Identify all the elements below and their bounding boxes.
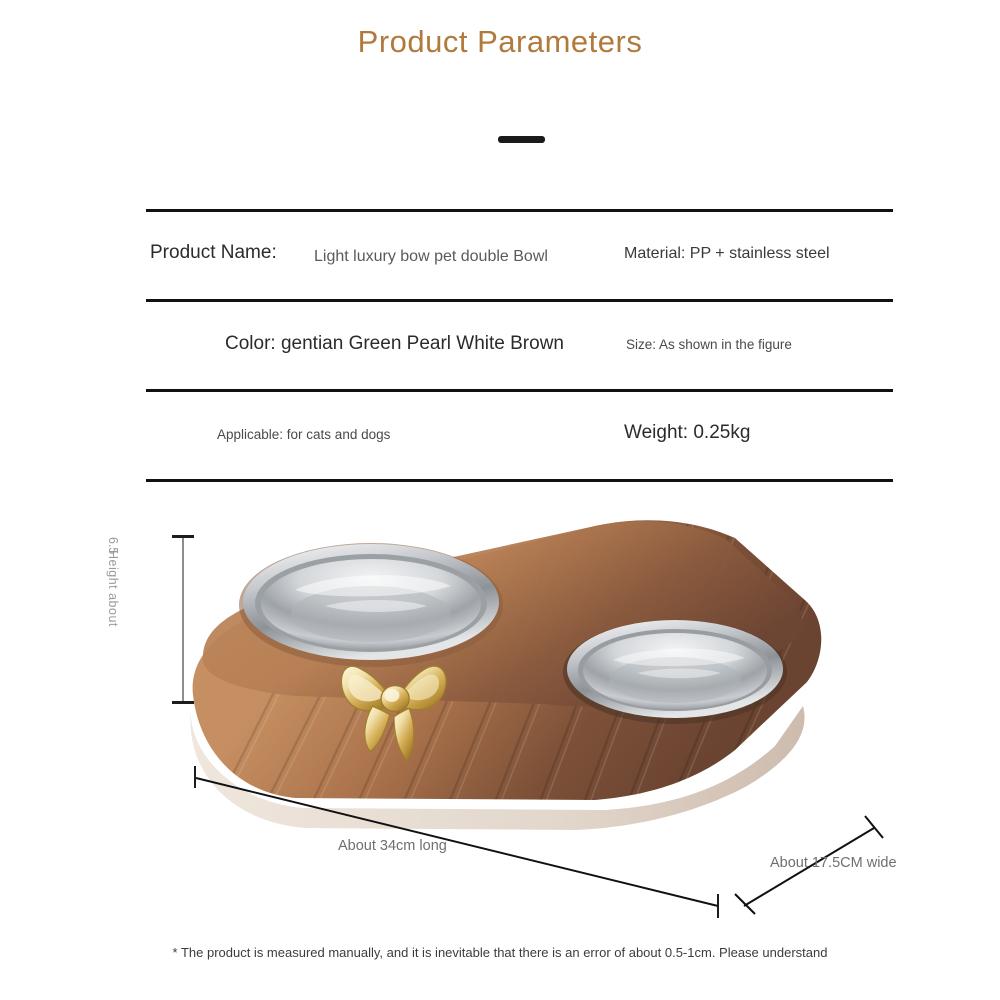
table-row: Product Name: Light luxury bow pet doubl…: [146, 212, 893, 299]
table-rule-bottom: [146, 479, 893, 482]
dimension-cap-length-right: [717, 894, 719, 918]
table-row: Color: gentian Green Pearl White Brown S…: [146, 302, 893, 389]
spec-label-applicable: Applicable: for cats and dogs: [217, 427, 390, 442]
spec-label-product-name: Product Name:: [150, 242, 277, 264]
dash-divider-icon: [498, 136, 545, 143]
spec-label-weight: Weight: 0.25kg: [624, 422, 750, 444]
spec-label-size: Size: As shown in the figure: [626, 337, 792, 352]
measurement-disclaimer: * The product is measured manually, and …: [0, 945, 1000, 960]
product-image-area: Height about 6.5 About 34cm long About 1…: [0, 490, 1000, 950]
spec-value-product-name: Light luxury bow pet double Bowl: [314, 248, 548, 266]
page-title: Product Parameters: [0, 24, 1000, 60]
dimension-label-length: About 34cm long: [338, 838, 447, 854]
product-photo: [175, 510, 845, 850]
dimension-line-height: [182, 536, 184, 703]
spec-table: Product Name: Light luxury bow pet doubl…: [146, 209, 893, 482]
dimension-cap-height-bottom: [172, 701, 194, 704]
bowl-right: [563, 620, 787, 724]
spec-label-color: Color: gentian Green Pearl White Brown: [225, 333, 564, 355]
dimension-cap-length-left: [194, 766, 196, 788]
dimension-cap-width-far: [865, 816, 883, 838]
dimension-value-height: 6.5: [106, 537, 120, 597]
dimension-cap-height-top: [172, 535, 194, 538]
table-row: Applicable: for cats and dogs Weight: 0.…: [146, 392, 893, 479]
spec-label-material: Material: PP + stainless steel: [624, 245, 830, 263]
dimension-cap-width-near: [735, 894, 755, 914]
bowl-left: [239, 543, 503, 667]
dimension-label-width: About 17.5CM wide: [770, 855, 897, 871]
